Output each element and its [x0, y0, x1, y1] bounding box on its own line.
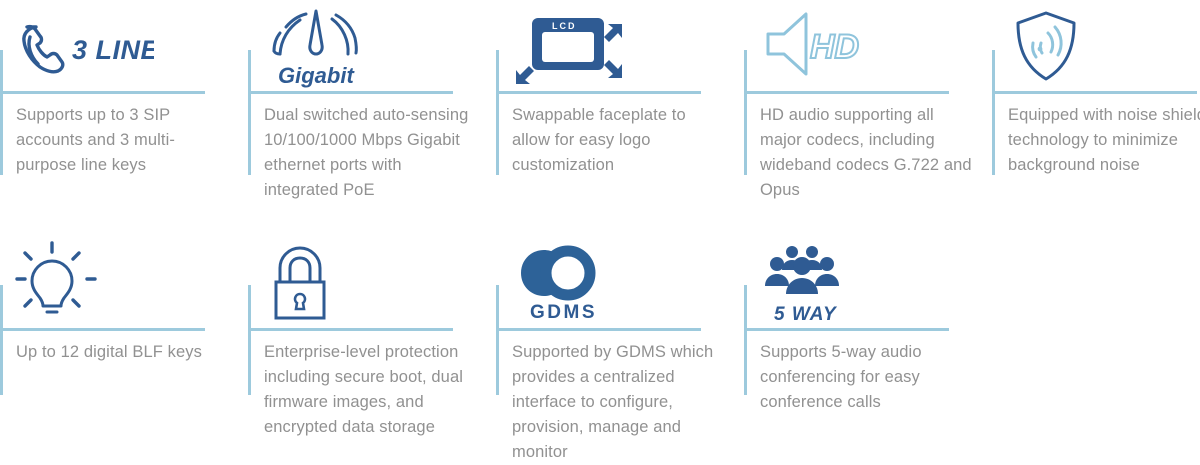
- icon-label: GDMS: [530, 302, 597, 323]
- divider-vertical: [0, 50, 3, 175]
- feature-description: HD audio supporting all major codecs, in…: [760, 103, 975, 203]
- feature-description: Dual switched auto-sensing 10/100/1000 M…: [264, 103, 479, 203]
- feature-description: Supported by GDMS which provides a centr…: [512, 340, 727, 465]
- gigabit-speed-icon: Gigabit: [262, 0, 392, 92]
- divider-vertical: [744, 50, 747, 175]
- people-group-5-way-icon: 5 WAY: [758, 238, 868, 328]
- shield-noise-icon: [1006, 0, 1096, 92]
- divider-vertical: [248, 285, 251, 395]
- hd-speaker-icon: HD: [758, 0, 883, 92]
- divider-vertical: [248, 50, 251, 175]
- lcd-faceplate-icon: LCD: [510, 0, 630, 92]
- feature-description: Swappable faceplate to allow for easy lo…: [512, 103, 727, 178]
- icon-label: LCD: [552, 21, 577, 31]
- feature-grid: 3 LINES Supports up to 3 SIP accounts an…: [0, 0, 1200, 441]
- divider-vertical: [496, 285, 499, 395]
- lightbulb-icon: [14, 238, 114, 328]
- divider-vertical: [0, 285, 3, 395]
- divider-horizontal: [248, 328, 453, 331]
- icon-label: Gigabit: [278, 63, 355, 88]
- divider-vertical: [496, 50, 499, 175]
- divider-vertical: [992, 50, 995, 175]
- feature-description: Supports up to 3 SIP accounts and 3 mult…: [16, 103, 231, 178]
- feature-description: Enterprise-level protection including se…: [264, 340, 479, 440]
- icon-label: 5 WAY: [774, 304, 838, 325]
- padlock-icon: [262, 238, 352, 328]
- feature-description: Up to 12 digital BLF keys: [16, 340, 231, 365]
- gdms-cloud-icon: GDMS: [510, 238, 620, 328]
- divider-vertical: [744, 285, 747, 395]
- feature-description: Supports 5-way audio conferencing for ea…: [760, 340, 975, 415]
- icon-label: HD: [810, 28, 859, 66]
- divider-horizontal: [496, 328, 701, 331]
- divider-horizontal: [0, 328, 205, 331]
- feature-description: Equipped with noise shield technology to…: [1008, 103, 1200, 178]
- icon-label: 3 LINES: [72, 35, 154, 65]
- divider-horizontal: [744, 328, 949, 331]
- phone-handset-3-lines-icon: 3 LINES: [14, 0, 154, 92]
